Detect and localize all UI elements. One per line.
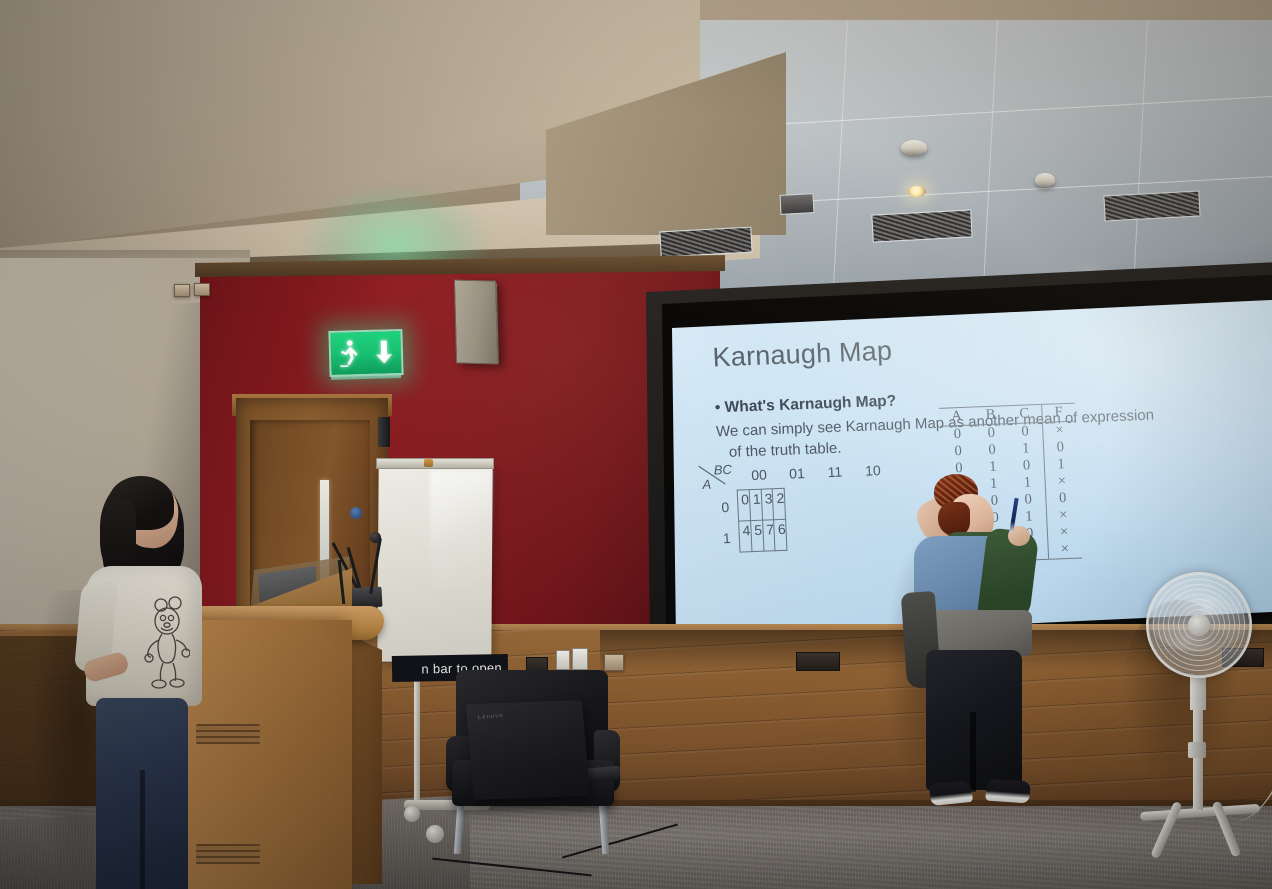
presenter-right — [912, 474, 1038, 810]
truth-table-cell-f: 0 — [1043, 439, 1078, 457]
kmap-cell: 6 — [774, 519, 787, 550]
kmap-column-headers: 00 01 11 10 — [740, 462, 893, 484]
kmap-col-variable-label: BC — [713, 462, 732, 478]
truth-table-header: B — [973, 406, 1008, 425]
kmap-cell-grid: 0 1 3 2 4 5 7 6 — [737, 488, 788, 553]
wall-speaker — [454, 279, 498, 364]
presenter-left-leg-seam — [140, 770, 145, 889]
truth-table-cell-f: 0 — [1045, 490, 1080, 508]
presenter-left — [78, 470, 218, 889]
slide-title: Karnaugh Map — [712, 321, 1261, 373]
kmap-col-header: 10 — [854, 462, 893, 479]
kmap-cell: 4 — [739, 521, 752, 552]
ceiling-air-vent — [659, 227, 752, 258]
truth-table-cell-f: × — [1044, 473, 1079, 491]
kmap-col-header: 00 — [740, 466, 779, 483]
lecture-room-photo: Karnaugh Map • What's Karnaugh Map? We c… — [0, 0, 1272, 889]
truth-table-cell: 0 — [941, 442, 976, 460]
power-plug[interactable] — [572, 648, 588, 670]
ceiling-downlight — [908, 186, 926, 197]
flipchart-caster — [426, 825, 444, 843]
door-blue-sign — [350, 507, 362, 519]
karnaugh-map-diagram: BC A 00 01 11 10 0 1 0 1 3 — [696, 467, 697, 489]
smoke-detector-icon — [901, 140, 927, 155]
truth-table-cell-f: × — [1047, 523, 1082, 541]
kmap-row: 4 5 7 6 — [739, 519, 788, 552]
truth-table-cell: 0 — [1008, 422, 1043, 441]
truth-table-cell-f: × — [1046, 506, 1081, 524]
flipchart-clamp-bar[interactable] — [376, 458, 494, 469]
lectern-side-panel — [348, 634, 382, 884]
flipchart-glare — [430, 470, 492, 590]
truth-table-cell-f: × — [1042, 421, 1077, 440]
wall-socket[interactable] — [604, 654, 624, 671]
ceiling-air-vent — [871, 209, 972, 242]
presenter-right-shoe — [985, 778, 1030, 803]
presenter-right-trouser-seam — [970, 712, 976, 792]
fan-height-collar[interactable] — [1188, 742, 1206, 758]
fan-neck — [1190, 676, 1206, 710]
kmap-cell: 5 — [750, 520, 763, 551]
flipchart-leg — [414, 660, 420, 810]
wall-socket-double[interactable] — [796, 652, 840, 671]
kmap-col-header: 01 — [778, 465, 817, 482]
kmap-row-headers: 0 1 — [721, 492, 732, 554]
truth-table-header: C — [1007, 404, 1042, 423]
tshirt-cartoon-mouse-print — [142, 596, 190, 690]
kmap-cell: 0 — [737, 490, 750, 521]
down-arrow-icon — [373, 338, 394, 367]
smoke-detector-icon — [1035, 173, 1055, 187]
gooseneck-microphone[interactable] — [370, 532, 381, 543]
kmap-row-header: 1 — [722, 523, 731, 554]
flipchart-caster — [404, 806, 420, 822]
ceiling-air-vent — [1103, 191, 1200, 222]
fan-hub — [1188, 614, 1210, 636]
kmap-col-header: 11 — [816, 463, 855, 480]
running-person-icon — [338, 338, 359, 369]
kmap-cell: 7 — [762, 520, 775, 551]
presenter-right-hair-nape — [938, 502, 970, 536]
truth-table-cell: 0 — [1010, 457, 1045, 475]
door-closer-arm — [378, 417, 390, 447]
truth-table-header: A — [939, 407, 974, 426]
truth-table-cell-f: 1 — [1043, 456, 1078, 474]
kmap-row-variable-label: A — [702, 477, 711, 492]
truth-table-header: F — [1041, 403, 1076, 422]
wall-socket[interactable] — [194, 283, 210, 296]
kmap-cell: 1 — [749, 489, 762, 520]
kmap-row: 0 1 3 2 — [737, 488, 786, 521]
presenter-right-shoe — [929, 780, 973, 806]
kmap-cell: 3 — [761, 489, 774, 520]
truth-table-cell: 0 — [975, 441, 1010, 459]
truth-table-cell: 0 — [974, 424, 1009, 443]
emergency-exit-sign — [328, 329, 403, 377]
ceiling-vent-box — [779, 193, 814, 215]
truth-table-cell-f: × — [1047, 540, 1082, 559]
wall-socket[interactable] — [174, 284, 190, 297]
flipchart-clamp-knob[interactable] — [424, 459, 433, 467]
truth-table-cell: 0 — [940, 425, 975, 444]
kmap-row-header: 0 — [721, 492, 730, 523]
truth-table-cell: 1 — [1009, 440, 1044, 458]
fan-pole[interactable] — [1193, 706, 1203, 810]
kmap-cell: 2 — [773, 488, 786, 519]
power-plug[interactable] — [556, 650, 570, 670]
